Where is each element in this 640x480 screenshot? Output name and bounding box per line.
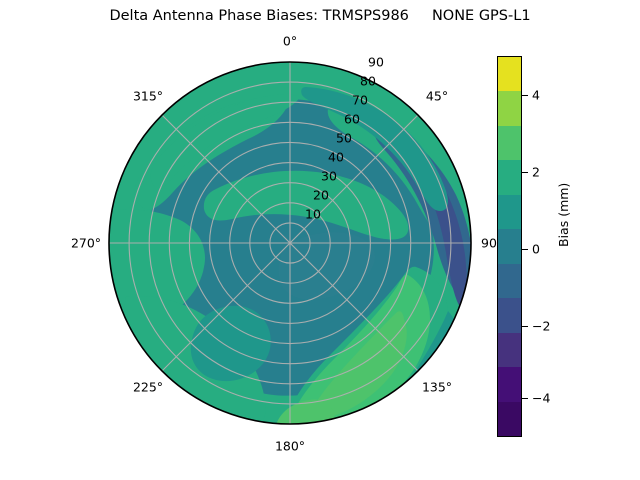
angular-tick-0: 0° <box>283 34 297 49</box>
radial-tick-10: 10 <box>305 207 321 222</box>
colorbar-band-3 <box>498 160 521 194</box>
radial-tick-40: 40 <box>328 150 344 165</box>
colorbar-tick-4: 4 <box>532 88 540 103</box>
colorbar-tick-2-mark <box>522 172 528 173</box>
chart-title: Delta Antenna Phase Biases: TRMSPS986 NO… <box>0 8 640 24</box>
polar-axes[interactable] <box>108 61 472 425</box>
radial-tick-80: 80 <box>360 74 376 89</box>
angular-tick-135: 135° <box>422 380 452 395</box>
polar-plot-svg <box>108 61 472 425</box>
radial-tick-90: 90 <box>368 55 384 70</box>
colorbar-band-2 <box>498 126 521 160</box>
radial-tick-60: 60 <box>344 112 360 127</box>
angular-tick-180: 180° <box>275 439 305 454</box>
colorbar-tick-minus4: −4 <box>532 391 550 406</box>
polar-grid <box>109 62 471 424</box>
radial-tick-20: 20 <box>313 188 329 203</box>
figure-canvas: Delta Antenna Phase Biases: TRMSPS986 NO… <box>0 0 640 480</box>
colorbar-band-0 <box>498 57 521 91</box>
colorbar-band-9 <box>498 367 521 401</box>
angular-tick-315: 315° <box>133 89 163 104</box>
angular-tick-225: 225° <box>133 380 163 395</box>
angular-tick-90: 90 <box>481 236 497 251</box>
colorbar-tick-minus2-mark <box>522 326 528 327</box>
angular-tick-270: 270° <box>71 236 101 251</box>
colorbar-tick-0: 0 <box>532 242 540 257</box>
colorbar-tick-minus2: −2 <box>532 319 550 334</box>
colorbar-tick-2: 2 <box>532 165 540 180</box>
colorbar-band-8 <box>498 333 521 367</box>
colorbar-tick-0-mark <box>522 249 528 250</box>
colorbar-band-5 <box>498 229 521 263</box>
colorbar-band-4 <box>498 195 521 229</box>
colorbar-band-10 <box>498 402 521 436</box>
colorbar[interactable] <box>497 56 522 437</box>
colorbar-band-1 <box>498 91 521 125</box>
radial-tick-50: 50 <box>336 131 352 146</box>
colorbar-band-6 <box>498 264 521 298</box>
colorbar-label: Bias (mm) <box>556 183 571 247</box>
radial-tick-30: 30 <box>321 169 337 184</box>
colorbar-band-7 <box>498 298 521 332</box>
colorbar-tick-minus4-mark <box>522 398 528 399</box>
colorbar-tick-4-mark <box>522 95 528 96</box>
angular-tick-45: 45° <box>426 89 448 104</box>
radial-tick-70: 70 <box>352 93 368 108</box>
